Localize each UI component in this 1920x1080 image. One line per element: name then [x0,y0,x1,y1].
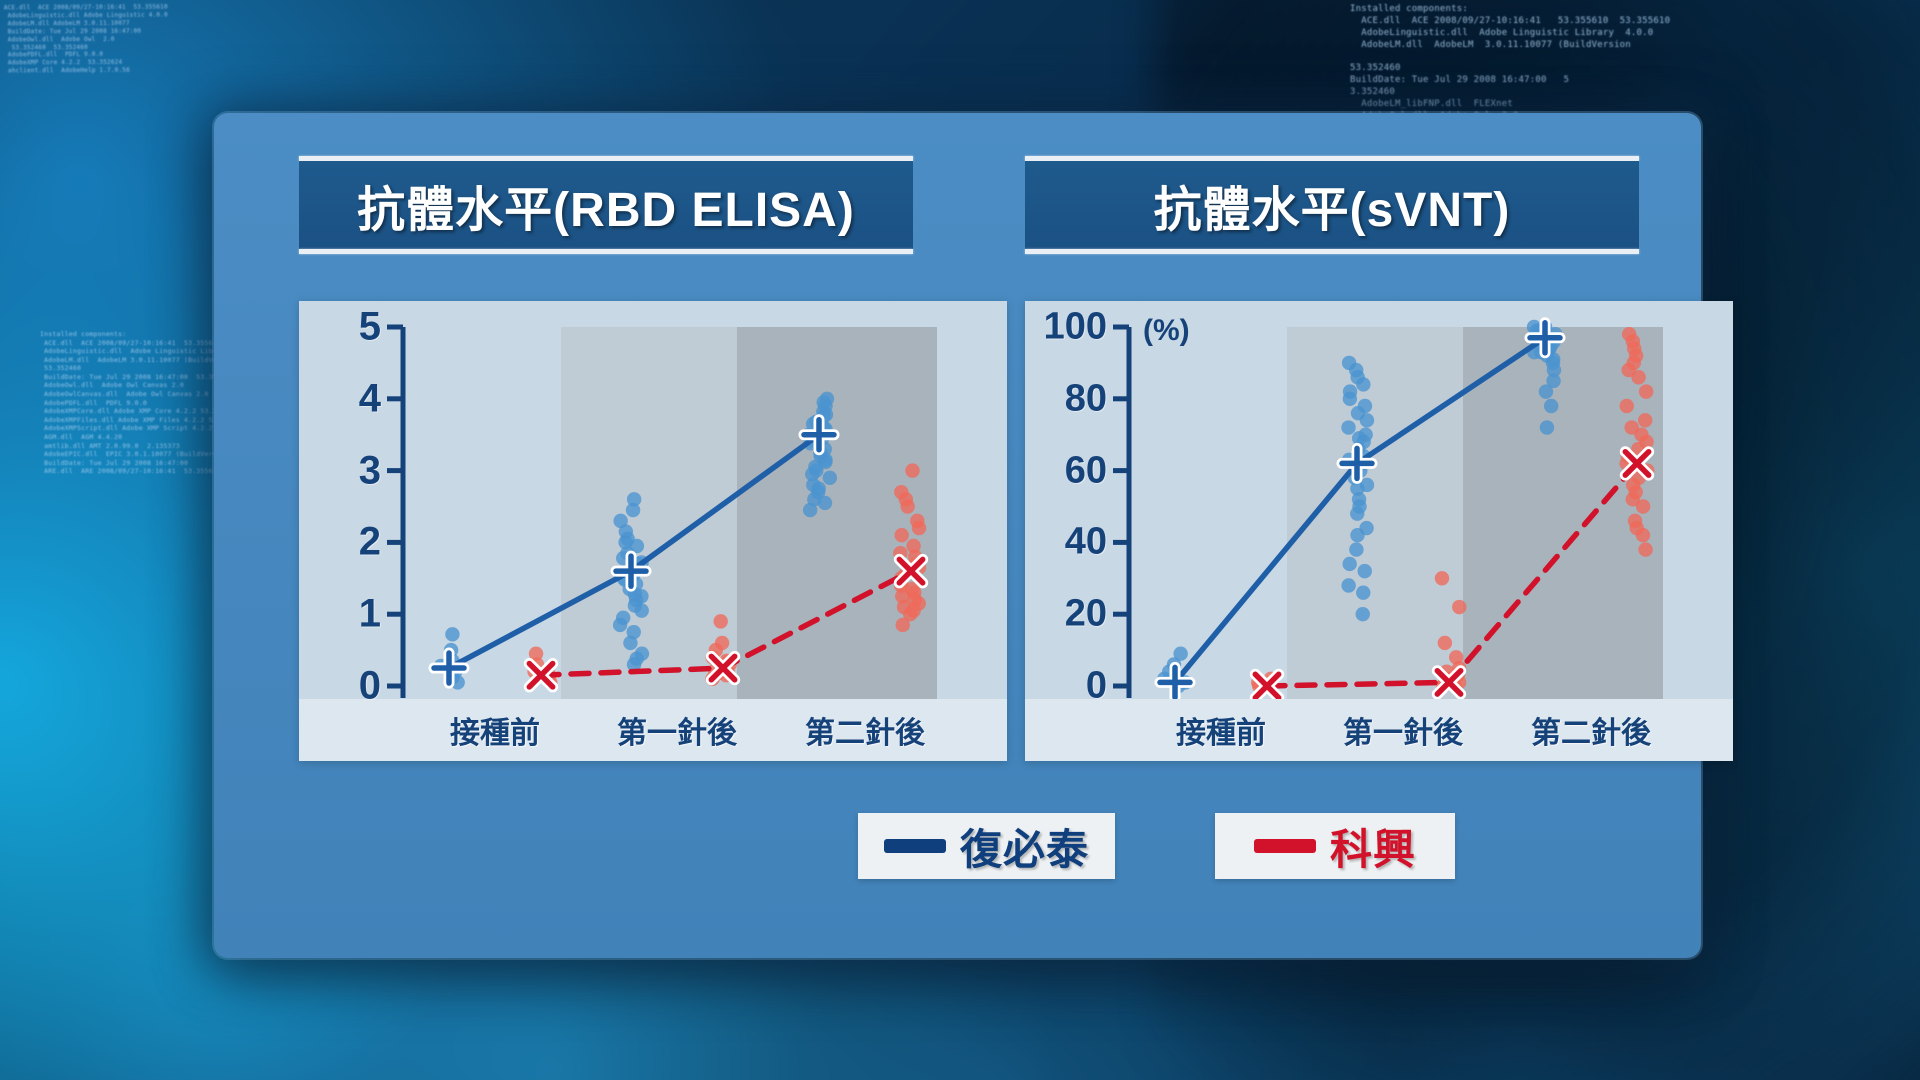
infographic-card: 抗體水平(RBD ELISA) 抗體水平(sVNT) 接種前第一針後第二針後 0… [214,113,1701,958]
x-axis-category-label: 接種前 [1176,708,1266,752]
x-axis-label-band: 接種前第一針後第二針後 [299,699,1007,761]
panel-title-text: 抗體水平(sVNT) [1154,170,1511,240]
chart-legend: 復必泰 科興 [214,813,1701,895]
title-box: 抗體水平(sVNT) [1025,161,1639,249]
y-axis-tick-label: 100 [1044,306,1107,349]
chart-plot-area [299,301,1007,761]
y-axis-tick-label: 0 [1086,665,1107,708]
title-bottom-rule [1025,249,1639,254]
title-bottom-rule [299,249,913,254]
y-axis-tick-label: 4 [359,376,381,421]
chart-panel-rbd-elisa: 接種前第一針後第二針後 012345 [299,301,1007,761]
y-axis-unit-label: (%) [1143,314,1190,348]
x-axis-category-label: 第二針後 [1531,708,1651,752]
panel-title-text: 抗體水平(RBD ELISA) [357,170,855,240]
legend-line-swatch-red [1254,839,1316,853]
y-axis-tick-label: 80 [1065,377,1107,420]
legend-label: 復必泰 [960,816,1089,877]
background-code-text-left: ACE.dll ACE 2008/09/27-10:16:41 53.35561… [4,4,168,76]
chart-plot-area [1025,301,1733,761]
x-axis-category-label: 第一針後 [617,708,737,752]
y-axis-tick-label: 1 [359,592,381,637]
chart-panel-svnt: 接種前第一針後第二針後 020406080100(%) [1025,301,1733,761]
y-axis-tick-label: 5 [359,305,381,350]
x-axis-label-band: 接種前第一針後第二針後 [1025,699,1733,761]
title-box: 抗體水平(RBD ELISA) [299,161,913,249]
y-axis-tick-label: 20 [1065,593,1107,636]
y-axis-tick-label: 60 [1065,449,1107,492]
y-axis-tick-label: 0 [359,664,381,709]
y-axis-tick-label: 3 [359,448,381,493]
x-axis-category-label: 接種前 [450,708,540,752]
x-axis-category-label: 第一針後 [1343,708,1463,752]
legend-line-swatch-blue [884,839,946,853]
y-axis-tick-label: 40 [1065,521,1107,564]
panel-title-rbd-elisa: 抗體水平(RBD ELISA) [299,156,913,254]
x-axis-category-label: 第二針後 [805,708,925,752]
legend-item-biontech[interactable]: 復必泰 [858,813,1115,879]
legend-label: 科興 [1330,816,1416,877]
legend-item-sinovac[interactable]: 科興 [1215,813,1455,879]
panel-title-svnt: 抗體水平(sVNT) [1025,156,1639,254]
y-axis-tick-label: 2 [359,520,381,565]
